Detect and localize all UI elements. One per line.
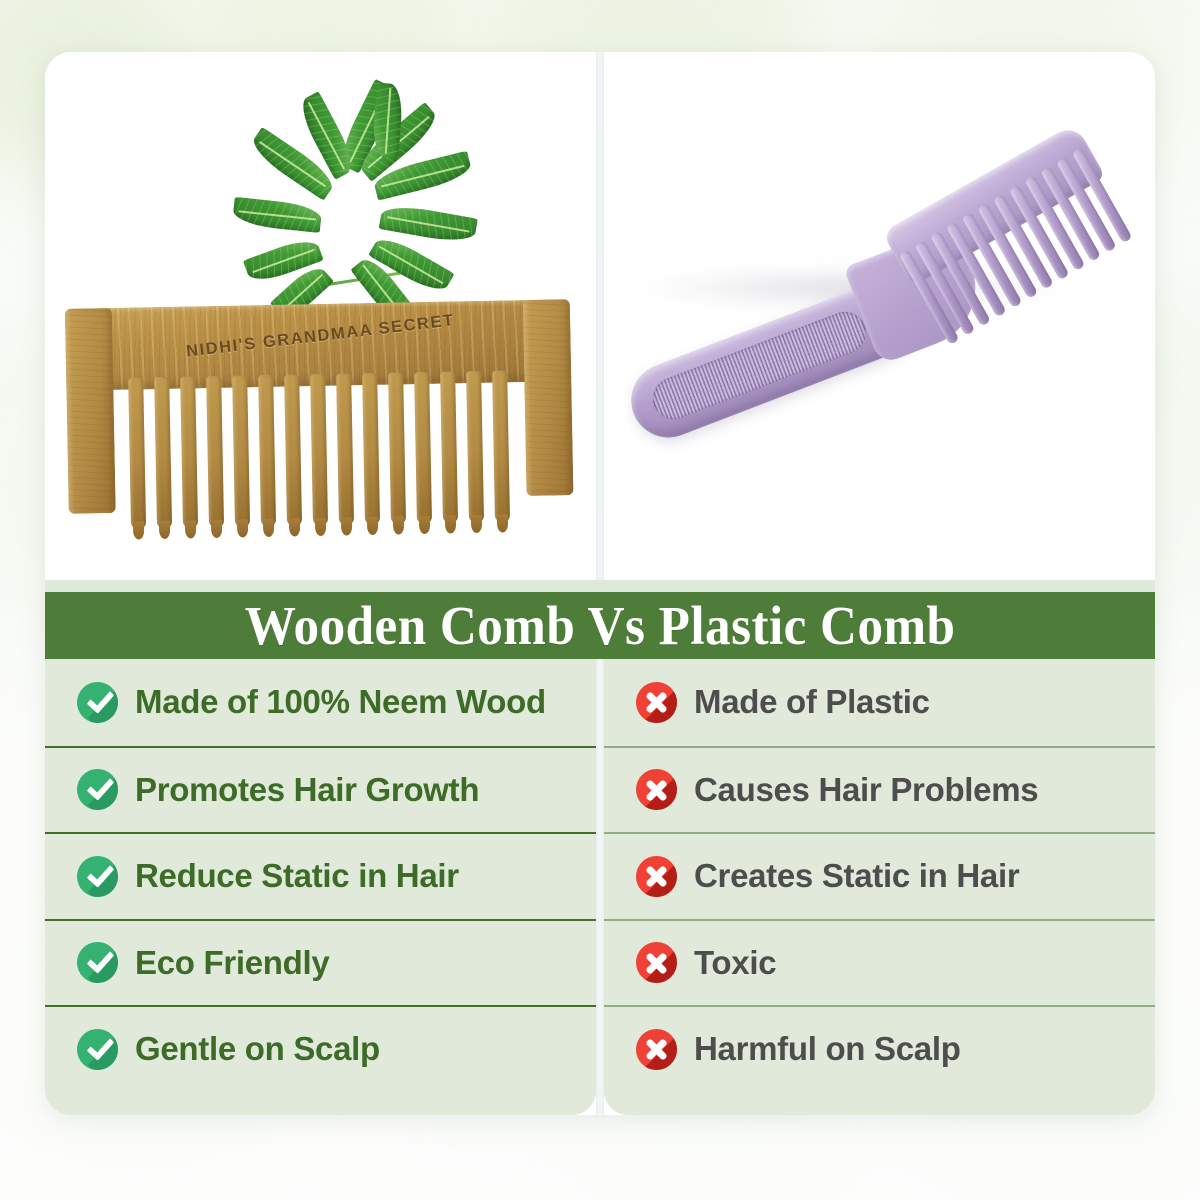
cross-circle-icon — [636, 856, 677, 897]
list-item: Promotes Hair Growth — [45, 746, 596, 833]
plastic-comb-column: Made of Plastic Causes Hair Problems Cre… — [604, 659, 1155, 1115]
wooden-comb-illustration: NIDHI'S GRANDMAA SECRET — [45, 52, 596, 580]
list-item: Creates Static in Hair — [604, 832, 1155, 919]
wooden-comb-column: Made of 100% Neem Wood Promotes Hair Gro… — [45, 659, 596, 1115]
list-item-label: Harmful on Scalp — [694, 1030, 961, 1068]
cross-circle-icon — [636, 769, 677, 810]
cross-circle-icon — [636, 942, 677, 983]
list-item: Made of Plastic — [604, 659, 1155, 746]
list-item: Made of 100% Neem Wood — [45, 659, 596, 746]
list-item: Reduce Static in Hair — [45, 832, 596, 919]
list-item-label: Promotes Hair Growth — [135, 771, 479, 809]
plastic-comb-image-cell — [604, 52, 1155, 580]
check-circle-icon — [77, 1029, 118, 1070]
list-item-label: Toxic — [694, 944, 776, 982]
product-image-row: NIDHI'S GRANDMAA SECRET — [45, 52, 1155, 580]
list-item-label: Eco Friendly — [135, 944, 329, 982]
wooden-comb-image-cell: NIDHI'S GRANDMAA SECRET — [45, 52, 596, 580]
list-item-label: Causes Hair Problems — [694, 771, 1038, 809]
title-bar: Wooden Comb Vs Plastic Comb — [45, 592, 1155, 659]
plastic-comb-illustration — [604, 52, 1155, 580]
list-item: Toxic — [604, 919, 1155, 1006]
plastic-comb-body — [604, 81, 1155, 547]
list-item-label: Made of 100% Neem Wood — [135, 683, 546, 721]
check-circle-icon — [77, 856, 118, 897]
neem-leaves-icon — [235, 130, 495, 320]
list-item: Harmful on Scalp — [604, 1005, 1155, 1092]
infographic-canvas: NIDHI'S GRANDMAA SECRET — [0, 0, 1200, 1200]
list-item-label: Made of Plastic — [694, 683, 930, 721]
list-item: Causes Hair Problems — [604, 746, 1155, 833]
check-circle-icon — [77, 682, 118, 723]
list-item: Gentle on Scalp — [45, 1005, 596, 1092]
title-top-strip — [45, 580, 1155, 592]
list-item-label: Creates Static in Hair — [694, 857, 1019, 895]
wooden-comb-body: NIDHI'S GRANDMAA SECRET — [65, 299, 574, 539]
infographic-card: NIDHI'S GRANDMAA SECRET — [45, 52, 1155, 1115]
cross-circle-icon — [636, 682, 677, 723]
list-item-label: Gentle on Scalp — [135, 1030, 380, 1068]
comparison-table: Made of 100% Neem Wood Promotes Hair Gro… — [45, 659, 1155, 1115]
check-circle-icon — [77, 769, 118, 810]
check-circle-icon — [77, 942, 118, 983]
page-title: Wooden Comb Vs Plastic Comb — [245, 598, 956, 653]
cross-circle-icon — [636, 1029, 677, 1070]
list-item: Eco Friendly — [45, 919, 596, 1006]
list-item-label: Reduce Static in Hair — [135, 857, 459, 895]
